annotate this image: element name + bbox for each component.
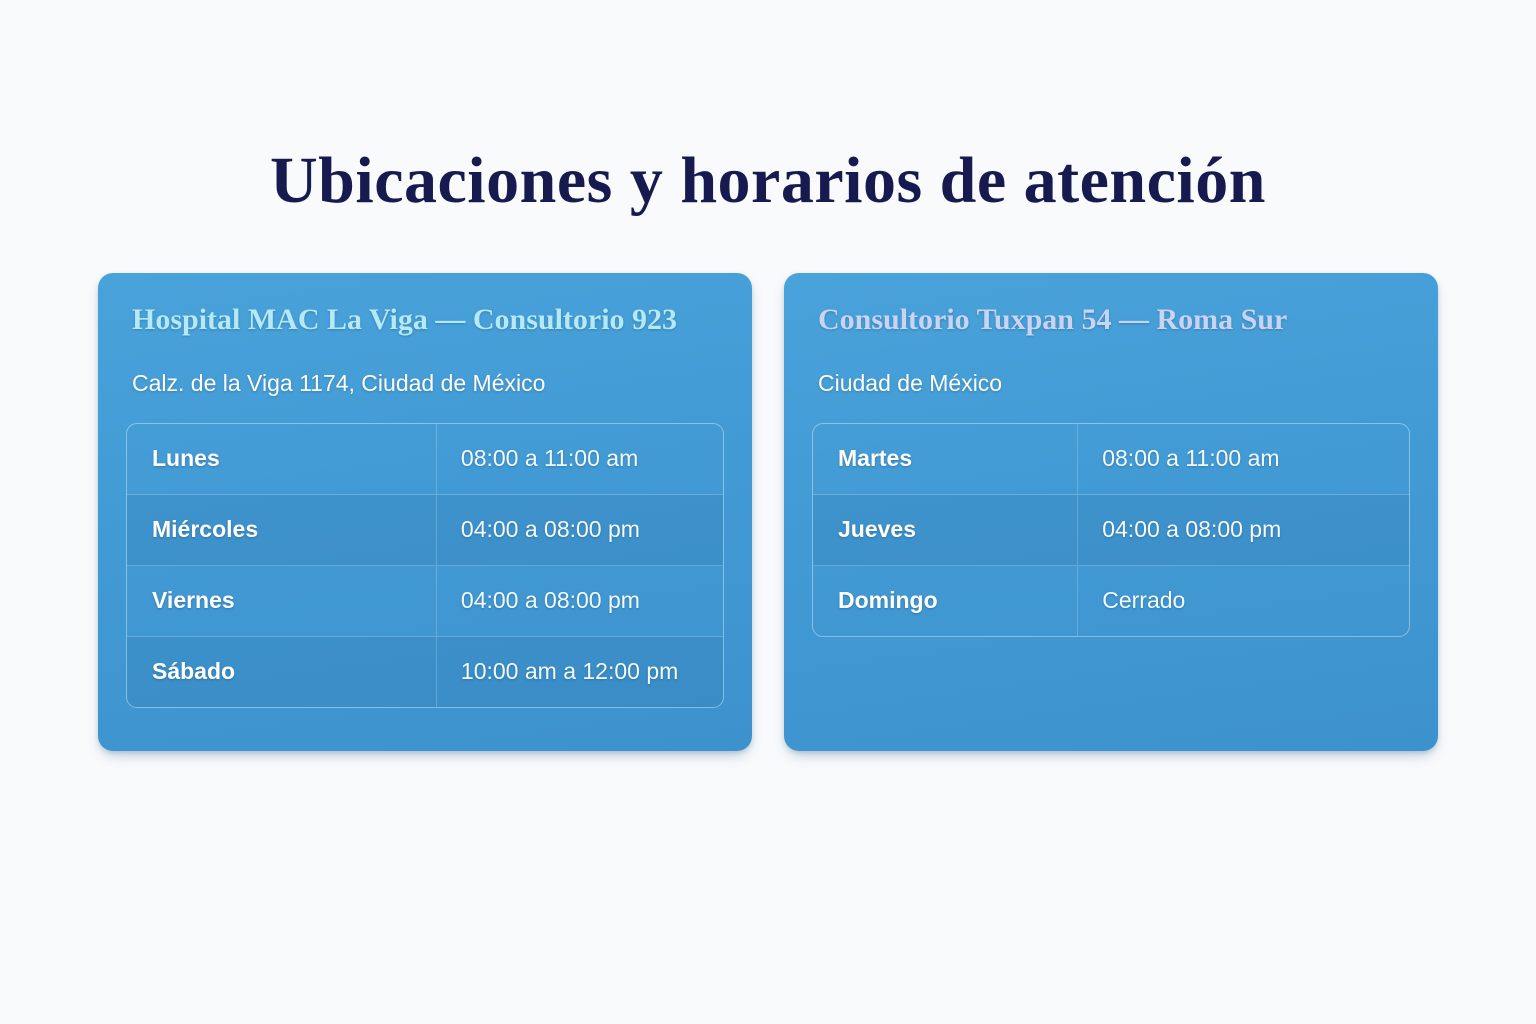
schedule-table: Martes 08:00 a 11:00 am Jueves 04:00 a 0…: [812, 423, 1410, 637]
locations-card-row: Hospital MAC La Viga — Consultorio 923 C…: [98, 273, 1438, 751]
location-card-consultorio-tuxpan-54: Consultorio Tuxpan 54 — Roma Sur Ciudad …: [784, 273, 1438, 751]
schedule-hours: 04:00 a 08:00 pm: [437, 495, 723, 565]
location-name: Consultorio Tuxpan 54 — Roma Sur: [818, 303, 1410, 336]
location-name: Hospital MAC La Viga — Consultorio 923: [132, 303, 724, 336]
schedule-day: Domingo: [813, 566, 1078, 636]
location-address: Ciudad de México: [818, 370, 1410, 398]
table-row: Miércoles 04:00 a 08:00 pm: [127, 495, 723, 566]
schedule-hours: Cerrado: [1078, 566, 1409, 636]
schedule-day: Martes: [813, 424, 1078, 494]
page-title: Ubicaciones y horarios de atención: [0, 148, 1536, 214]
table-row: Martes 08:00 a 11:00 am: [813, 424, 1409, 495]
schedule-day: Sábado: [127, 637, 437, 707]
location-address: Calz. de la Viga 1174, Ciudad de México: [132, 370, 724, 398]
table-row: Viernes 04:00 a 08:00 pm: [127, 566, 723, 637]
schedule-hours: 10:00 am a 12:00 pm: [437, 637, 723, 707]
table-row: Jueves 04:00 a 08:00 pm: [813, 495, 1409, 566]
schedule-day: Viernes: [127, 566, 437, 636]
table-row: Lunes 08:00 a 11:00 am: [127, 424, 723, 495]
schedule-day: Miércoles: [127, 495, 437, 565]
table-row: Sábado 10:00 am a 12:00 pm: [127, 637, 723, 707]
page-root: Ubicaciones y horarios de atención Hospi…: [0, 0, 1536, 1024]
schedule-day: Lunes: [127, 424, 437, 494]
schedule-hours: 04:00 a 08:00 pm: [1078, 495, 1409, 565]
schedule-hours: 04:00 a 08:00 pm: [437, 566, 723, 636]
schedule-day: Jueves: [813, 495, 1078, 565]
location-card-hospital-mac-la-viga: Hospital MAC La Viga — Consultorio 923 C…: [98, 273, 752, 751]
schedule-hours: 08:00 a 11:00 am: [437, 424, 723, 494]
schedule-table: Lunes 08:00 a 11:00 am Miércoles 04:00 a…: [126, 423, 724, 708]
table-row: Domingo Cerrado: [813, 566, 1409, 636]
schedule-hours: 08:00 a 11:00 am: [1078, 424, 1409, 494]
